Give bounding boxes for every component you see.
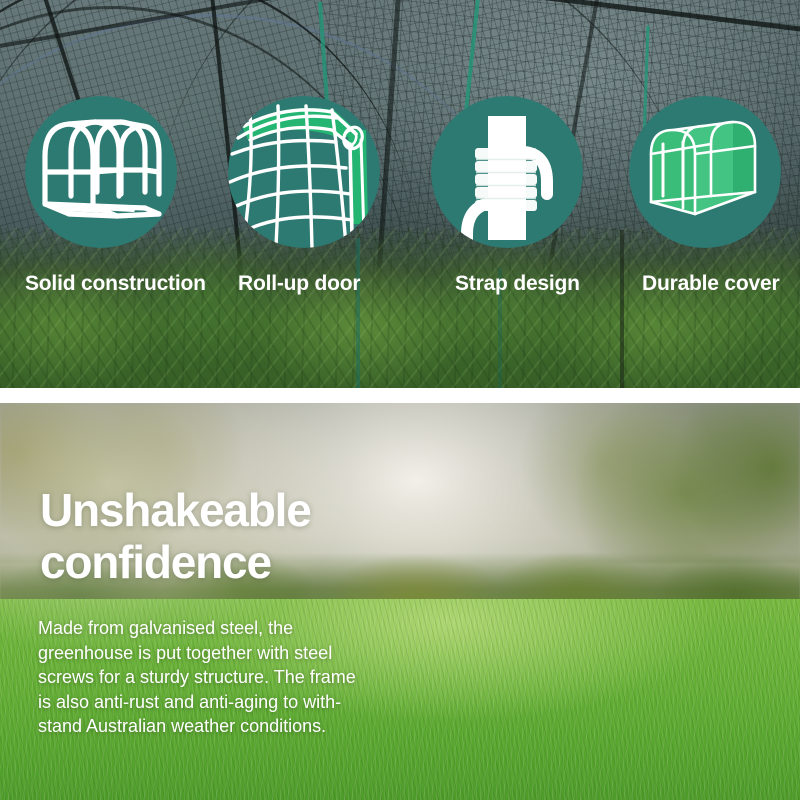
- feature-circle: [228, 96, 380, 248]
- product-feature-banner: Solid construction: [0, 0, 800, 800]
- feature-item-strap-design: Strap design: [431, 96, 583, 248]
- top-feature-panel: Solid construction: [0, 0, 800, 388]
- hero-heading: Unshakeable confidence: [40, 484, 311, 588]
- hero-heading-line2: confidence: [40, 536, 311, 588]
- feature-circle: [629, 96, 781, 248]
- strap-pole-icon: [431, 96, 583, 248]
- feature-icon-row: Solid construction: [0, 0, 800, 388]
- covered-tunnel-icon: [629, 96, 781, 248]
- roll-up-door-icon: [228, 96, 380, 248]
- feature-label: Strap design: [455, 272, 580, 296]
- bottom-hero-panel: Unshakeable confidence Made from galvani…: [0, 403, 800, 800]
- hero-body-text: Made from galvanised steel, the greenhou…: [38, 616, 368, 739]
- feature-item-solid-construction: Solid construction: [25, 96, 177, 248]
- greenhouse-frame-icon: [25, 96, 177, 248]
- feature-label: Roll-up door: [238, 272, 360, 296]
- feature-item-durable-cover: Durable cover: [629, 96, 781, 248]
- feature-label: Durable cover: [642, 272, 779, 296]
- feature-item-roll-up-door: Roll-up door: [228, 96, 380, 248]
- panel-divider: [0, 388, 800, 403]
- feature-circle: [25, 96, 177, 248]
- feature-label: Solid construction: [25, 272, 206, 296]
- feature-circle: [431, 96, 583, 248]
- hero-heading-line1: Unshakeable: [40, 484, 311, 536]
